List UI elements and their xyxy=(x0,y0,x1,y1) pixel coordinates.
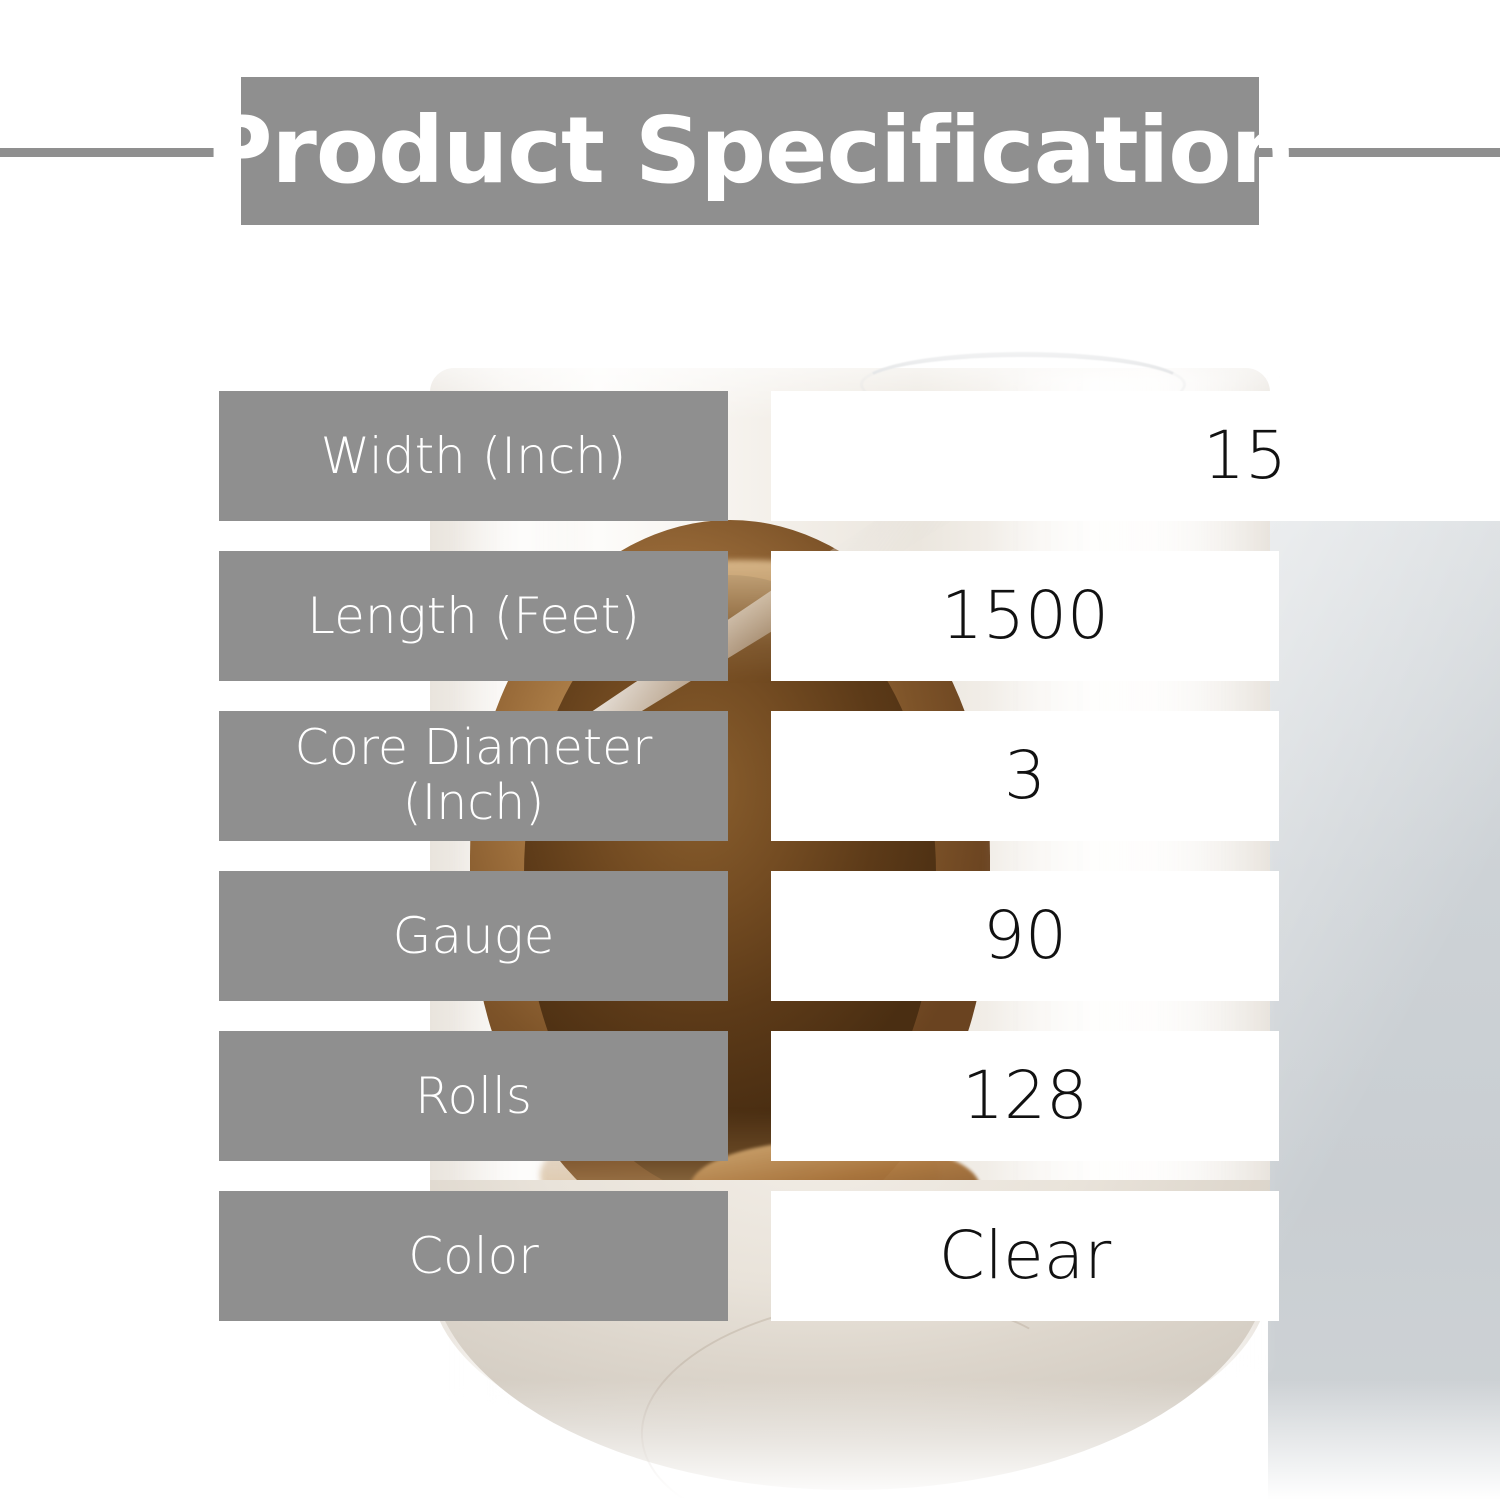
table-row: Color Clear xyxy=(219,1191,1279,1321)
product-specification-page: Product Specification Width (Inch) 15 Le… xyxy=(0,0,1500,1500)
table-row: Rolls 128 xyxy=(219,1031,1279,1161)
page-title: Product Specification xyxy=(205,105,1295,197)
spec-label-core-diameter-text: Core Diameter (Inch) xyxy=(295,721,653,831)
spec-value-length: 1500 xyxy=(771,551,1279,681)
spec-value-width: 15 xyxy=(771,391,1500,521)
spec-label-core-diameter-line2: (Inch) xyxy=(403,774,545,831)
spec-label-length: Length (Feet) xyxy=(219,551,728,681)
spec-label-width: Width (Inch) xyxy=(219,391,728,521)
spec-label-core-diameter: Core Diameter (Inch) xyxy=(219,711,728,841)
spec-value-rolls: 128 xyxy=(771,1031,1279,1161)
table-row: Length (Feet) 1500 xyxy=(219,551,1279,681)
spec-value-gauge: 90 xyxy=(771,871,1279,1001)
spec-label-core-diameter-line1: Core Diameter xyxy=(295,719,653,776)
specification-table: Width (Inch) 15 Length (Feet) 1500 Core … xyxy=(219,391,1279,1321)
table-row: Gauge 90 xyxy=(219,871,1279,1001)
header-banner: Product Specification xyxy=(241,77,1259,225)
spec-label-rolls: Rolls xyxy=(219,1031,728,1161)
spec-label-color: Color xyxy=(219,1191,728,1321)
spec-label-gauge: Gauge xyxy=(219,871,728,1001)
spec-value-color: Clear xyxy=(771,1191,1279,1321)
spec-value-core-diameter: 3 xyxy=(771,711,1279,841)
table-row: Core Diameter (Inch) 3 xyxy=(219,711,1279,841)
table-row: Width (Inch) 15 xyxy=(219,391,1279,521)
